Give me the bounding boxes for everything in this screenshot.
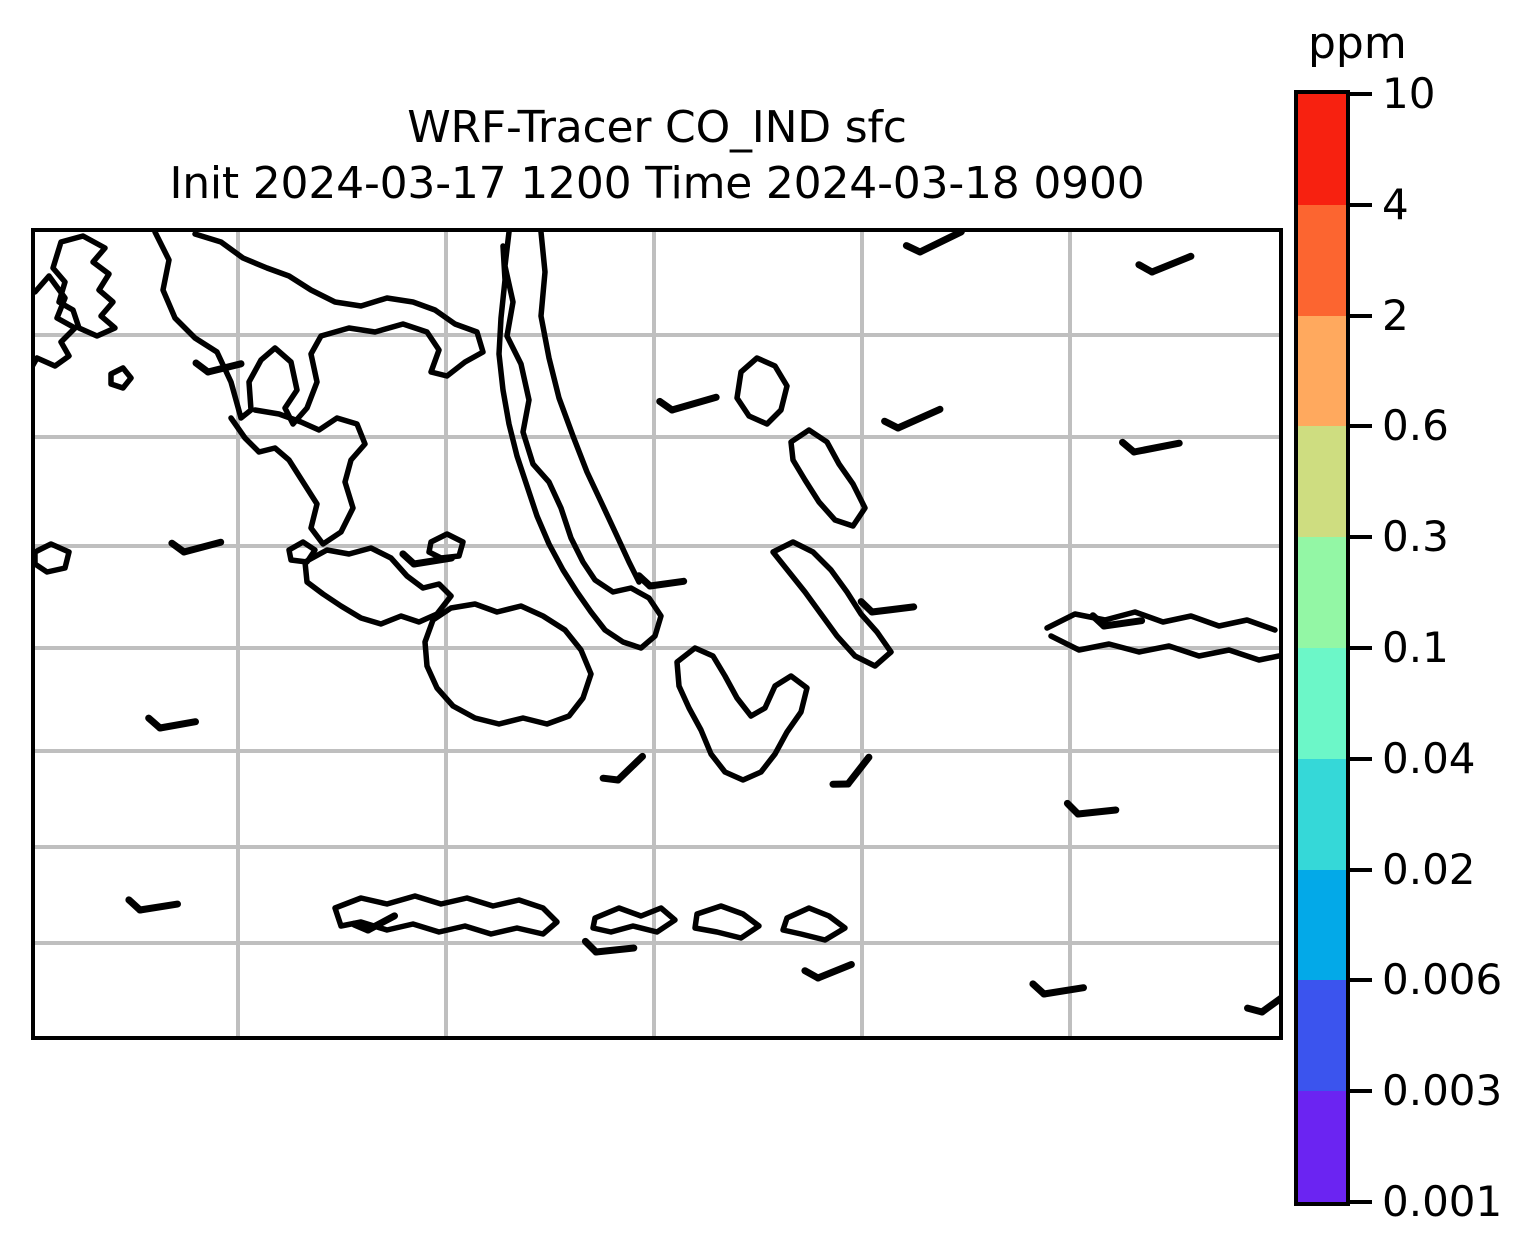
colorbar-band [1298,648,1346,759]
wind-barb-shaft [184,542,221,552]
colorbar-tick-mark [1350,92,1372,96]
wind-barb-flag [129,900,140,910]
map-plot-area [35,232,1279,1036]
colorbar-tick-label: 0.1 [1382,623,1449,673]
wind-barb-shaft [414,558,452,564]
wind-barb-shaft [596,948,634,952]
title-line-2: Init 2024-03-17 1200 Time 2024-03-18 090… [31,156,1283,212]
colorbar-tick-label: 0.006 [1382,955,1502,1005]
colorbar-tick-mark [1350,1200,1372,1204]
colorbar-tick-mark [1350,314,1372,318]
wind-barb-flag [603,778,618,780]
wind-barb-shaft [1262,996,1279,1013]
wind-barb-flag [1093,616,1104,626]
colorbar-tick-mark [1350,535,1372,539]
colorbar-tick-mark [1350,424,1372,428]
colorbar-band [1298,316,1346,427]
wind-barb-flag [861,602,872,612]
figure-canvas: WRF-Tracer CO_IND sfc Init 2024-03-17 12… [0,0,1528,1256]
wind-barb-flag [660,401,672,410]
wind-barb-shaft [872,607,914,612]
colorbar-tick-mark [1350,646,1372,650]
colorbar-band [1298,94,1346,205]
wind-barb-flag [639,576,650,586]
wind-barb-flag [585,941,596,952]
wind-barb-flag [885,421,898,428]
wind-barb-flag [196,363,208,372]
wind-barb-shaft [818,965,851,979]
colorbar-tick-label: 2 [1382,291,1409,341]
colorbar-band [1298,870,1346,981]
wind-barb-shaft [1104,621,1142,626]
wind-barb-shaft [1078,810,1116,814]
colorbar-tick-label: 0.04 [1382,734,1476,784]
wind-barb-shaft [1044,988,1084,994]
colorbar-tick-label: 0.003 [1382,1066,1502,1116]
colorbar-band [1298,426,1346,537]
wind-barb-shaft [368,916,395,930]
wind-barb-shaft [848,757,869,784]
chart-title: WRF-Tracer CO_IND sfc Init 2024-03-17 12… [31,100,1283,213]
colorbar-tick-label: 0.6 [1382,401,1449,451]
wind-barb-flag [354,924,368,930]
wind-barb-flag [1248,1008,1263,1012]
colorbar-band [1298,205,1346,316]
map-axes[interactable] [31,228,1283,1040]
wind-barb-shaft [160,722,196,728]
colorbar-tick-label: 10 [1382,69,1435,119]
colorbar-band [1298,759,1346,870]
title-line-1: WRF-Tracer CO_IND sfc [31,100,1283,156]
wind-barb-shaft [208,364,241,372]
colorbar-tick-label: 0.02 [1382,845,1476,895]
wind-barb-flag [906,246,920,252]
colorbar-tick-label: 4 [1382,180,1409,230]
colorbar-tick-mark [1350,978,1372,982]
colorbar-band [1298,1091,1346,1202]
wind-barb-overlay [35,232,1279,1036]
colorbar-tick-mark [1350,757,1372,761]
wind-barb-flag [1067,803,1078,814]
wind-barb-flag [403,554,414,564]
colorbar-unit-label: ppm [1308,22,1407,66]
colorbar-band [1298,537,1346,648]
colorbar-tick-label: 0.001 [1382,1177,1502,1227]
wind-barb-shaft [140,904,178,910]
wind-barb-flag [1123,442,1135,452]
colorbar-band [1298,980,1346,1091]
wind-barb-flag [1033,984,1044,994]
wind-barb-shaft [1152,256,1191,272]
wind-barb-shaft [1134,443,1179,452]
colorbar[interactable] [1294,90,1350,1206]
wind-barb-flag [149,718,160,728]
wind-barb-flag [172,543,184,552]
wind-barb-shaft [920,232,961,252]
wind-barb-flag [805,971,818,978]
wind-barb-flag [1139,265,1152,272]
wind-barb-shaft [898,409,940,428]
colorbar-tick-mark [1350,203,1372,207]
wind-barb-shaft [672,397,716,410]
wind-barb-shaft [650,581,684,586]
colorbar-tick-mark [1350,868,1372,872]
wind-barb-shaft [618,756,643,780]
colorbar-tick-mark [1350,1089,1372,1093]
colorbar-tick-label: 0.3 [1382,512,1449,562]
colorbar-tick-labels: 10420.60.30.10.040.020.0060.0030.001 [1350,90,1520,1206]
